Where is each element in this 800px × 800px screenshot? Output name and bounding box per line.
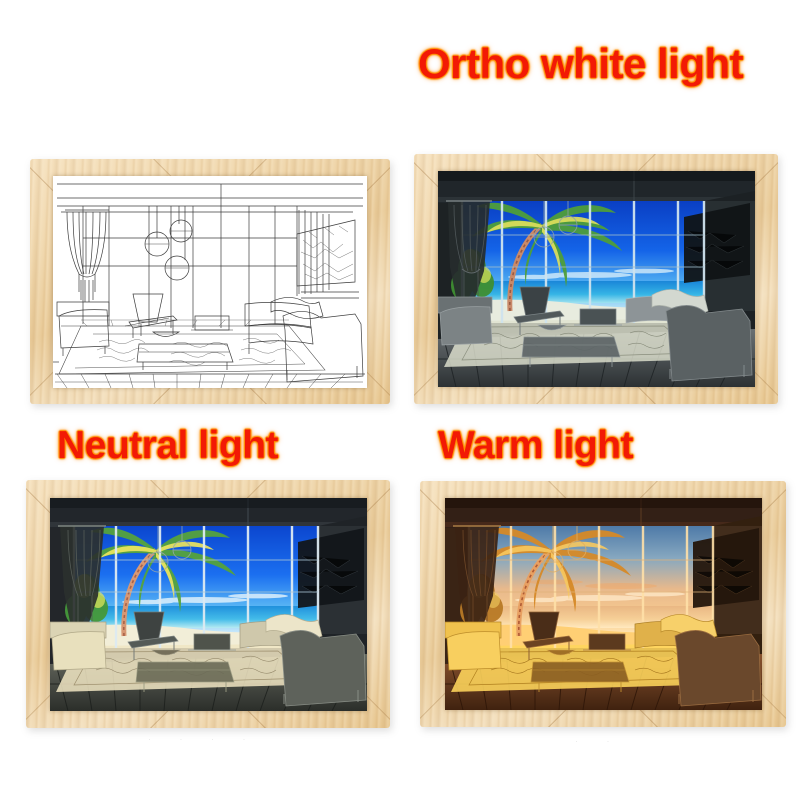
frame-ortho-white-light[interactable] bbox=[414, 154, 778, 404]
watermark-left: · · · · bbox=[148, 734, 259, 744]
artwork-lineart bbox=[53, 176, 367, 388]
scene-ortho-white-svg bbox=[438, 171, 755, 387]
frame-warm-light[interactable] bbox=[420, 481, 786, 727]
lineart-scene-svg bbox=[53, 176, 367, 388]
frame-lineart-unlit[interactable] bbox=[30, 159, 390, 404]
artwork-warm bbox=[445, 498, 762, 710]
label-warm-light: Warm light bbox=[438, 424, 633, 468]
watermark-right: · · bbox=[575, 736, 623, 746]
scene-neutral-svg bbox=[50, 498, 367, 711]
frame-neutral-light[interactable] bbox=[26, 480, 390, 728]
label-neutral-light: Neutral light bbox=[57, 424, 278, 468]
product-photo-collage: Ortho white light Neutral light Warm lig… bbox=[0, 0, 800, 800]
artwork-ortho-white bbox=[438, 171, 755, 387]
scene-warm-svg bbox=[445, 498, 762, 710]
artwork-neutral bbox=[50, 498, 367, 711]
label-ortho-white-light: Ortho white light bbox=[418, 40, 743, 88]
